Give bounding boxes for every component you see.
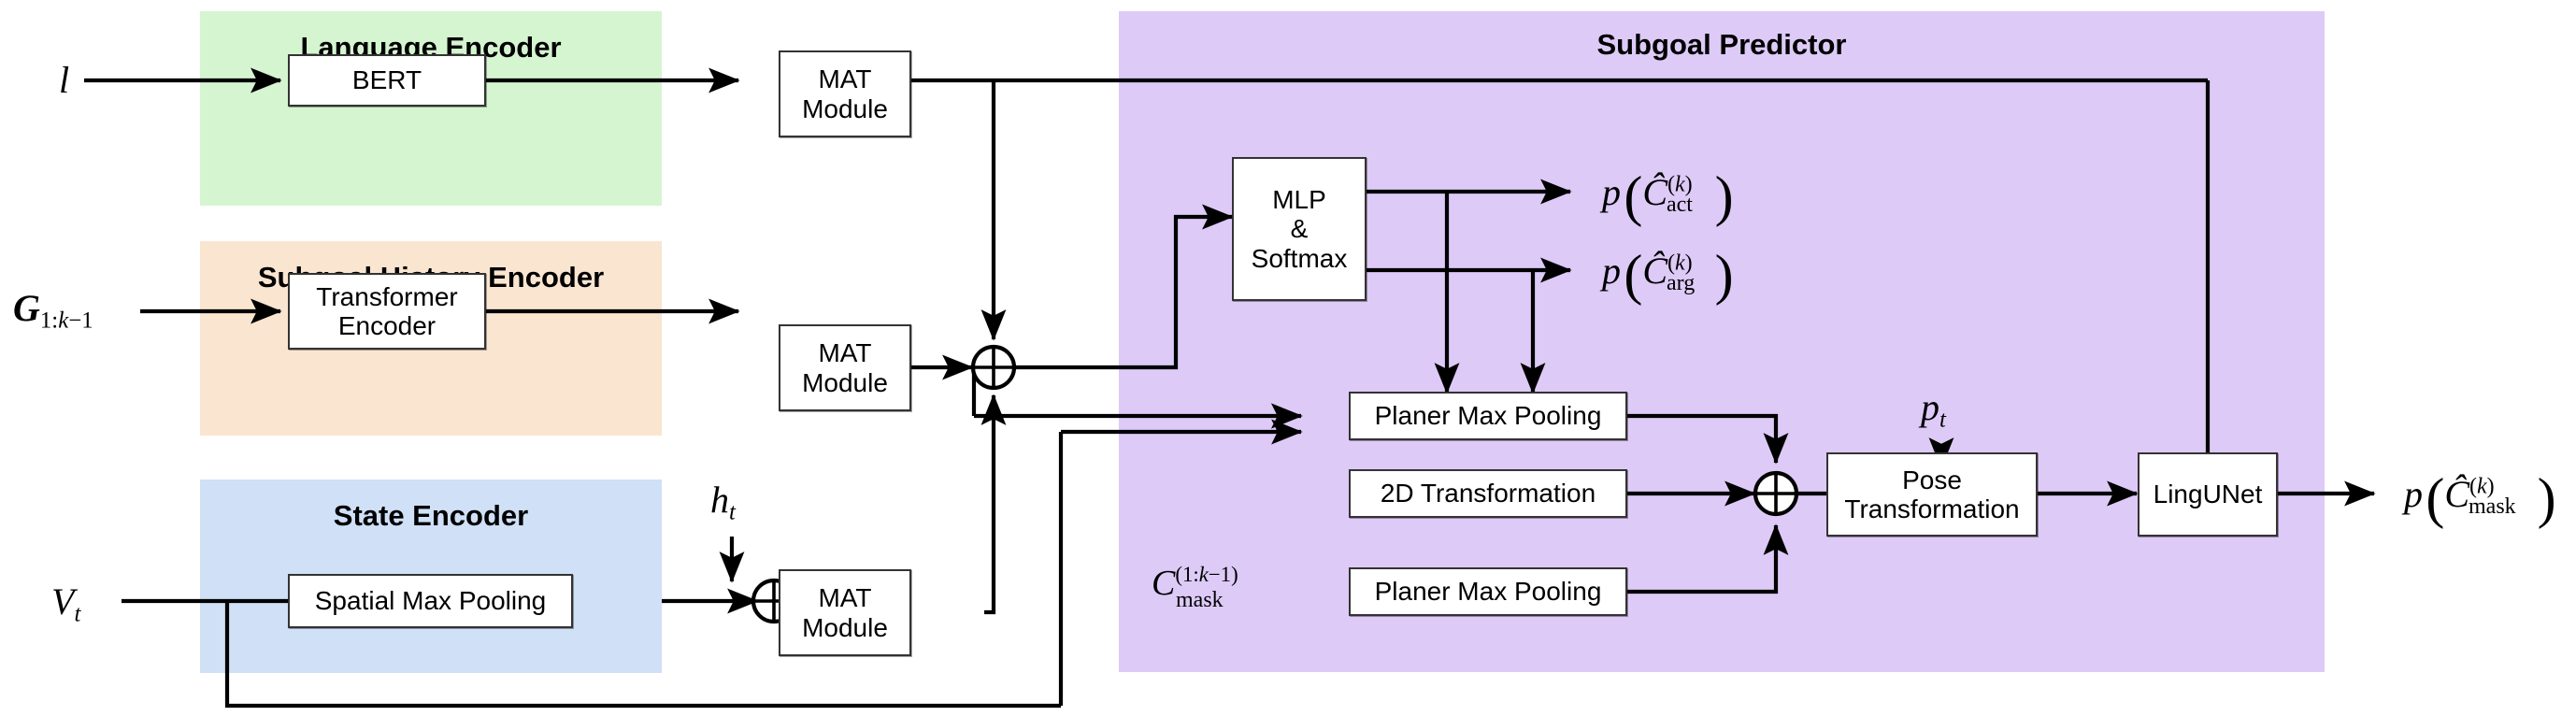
edge-matstate-to-sum bbox=[984, 395, 994, 612]
node-spatial-max-pooling[interactable]: Spatial Max Pooling bbox=[288, 574, 573, 628]
node-pose-transformation-label-2: Transformation bbox=[1844, 494, 2019, 523]
node-mat-module-history[interactable]: MAT Module bbox=[779, 324, 911, 411]
node-mlp-softmax-label-1: MLP bbox=[1272, 185, 1326, 214]
label-input-mask-history: C(1:k−1)mask bbox=[1152, 565, 1238, 601]
node-mat-module-state[interactable]: MAT Module bbox=[779, 569, 911, 656]
node-spatial-max-pooling-label: Spatial Max Pooling bbox=[315, 586, 546, 615]
architecture-diagram: Language Encoder Subgoal History Encoder… bbox=[0, 0, 2576, 716]
node-planer-max-pooling-top-label: Planer Max Pooling bbox=[1375, 401, 1602, 430]
label-input-language: l bbox=[59, 58, 69, 102]
node-pose-transformation[interactable]: Pose Transformation bbox=[1826, 452, 2038, 537]
label-input-hidden-state: ht bbox=[710, 478, 736, 525]
node-transformer-encoder-label-1: Transformer bbox=[316, 282, 457, 311]
label-output-argument: p (Ĉ(k)arg) bbox=[1602, 243, 1734, 308]
node-mat-module-history-label-1: MAT bbox=[818, 338, 871, 367]
label-input-pose: pt bbox=[1921, 385, 1946, 433]
node-mlp-softmax-label-2: & bbox=[1291, 214, 1309, 243]
label-output-action: p (Ĉ(k)act) bbox=[1602, 165, 1734, 229]
node-mlp-softmax[interactable]: MLP & Softmax bbox=[1232, 157, 1367, 301]
node-planer-max-pooling-bottom-label: Planer Max Pooling bbox=[1375, 577, 1602, 606]
node-pose-transformation-label-1: Pose bbox=[1902, 465, 1962, 494]
node-planer-max-pooling-top[interactable]: Planer Max Pooling bbox=[1349, 392, 1627, 440]
label-output-mask: p (Ĉ(k)mask) bbox=[2404, 466, 2556, 531]
label-input-subgoal-history: G1:k−1 bbox=[13, 286, 93, 334]
node-lingunet-label: LingUNet bbox=[2154, 480, 2263, 508]
node-lingunet[interactable]: LingUNet bbox=[2138, 452, 2278, 537]
node-mat-module-history-label-2: Module bbox=[802, 368, 888, 397]
label-input-visual-state: Vt bbox=[51, 580, 80, 627]
node-2d-transformation-label: 2D Transformation bbox=[1381, 479, 1596, 508]
node-bert-label: BERT bbox=[352, 65, 422, 94]
node-bert[interactable]: BERT bbox=[288, 54, 486, 107]
node-mat-module-language-label-1: MAT bbox=[818, 64, 871, 93]
node-mat-module-state-label-2: Module bbox=[802, 613, 888, 642]
node-mat-module-state-label-1: MAT bbox=[818, 583, 871, 612]
node-mat-module-language-label-2: Module bbox=[802, 94, 888, 123]
node-mat-module-language[interactable]: MAT Module bbox=[779, 50, 911, 137]
edge-sum-to-planer-top bbox=[994, 389, 1301, 416]
node-transformer-encoder-label-2: Encoder bbox=[338, 311, 436, 340]
node-mlp-softmax-label-3: Softmax bbox=[1252, 244, 1348, 273]
node-planer-max-pooling-bottom[interactable]: Planer Max Pooling bbox=[1349, 567, 1627, 616]
node-transformer-encoder[interactable]: Transformer Encoder bbox=[288, 273, 486, 350]
edge-sum-to-mlp bbox=[1015, 217, 1232, 367]
node-2d-transformation[interactable]: 2D Transformation bbox=[1349, 469, 1627, 518]
